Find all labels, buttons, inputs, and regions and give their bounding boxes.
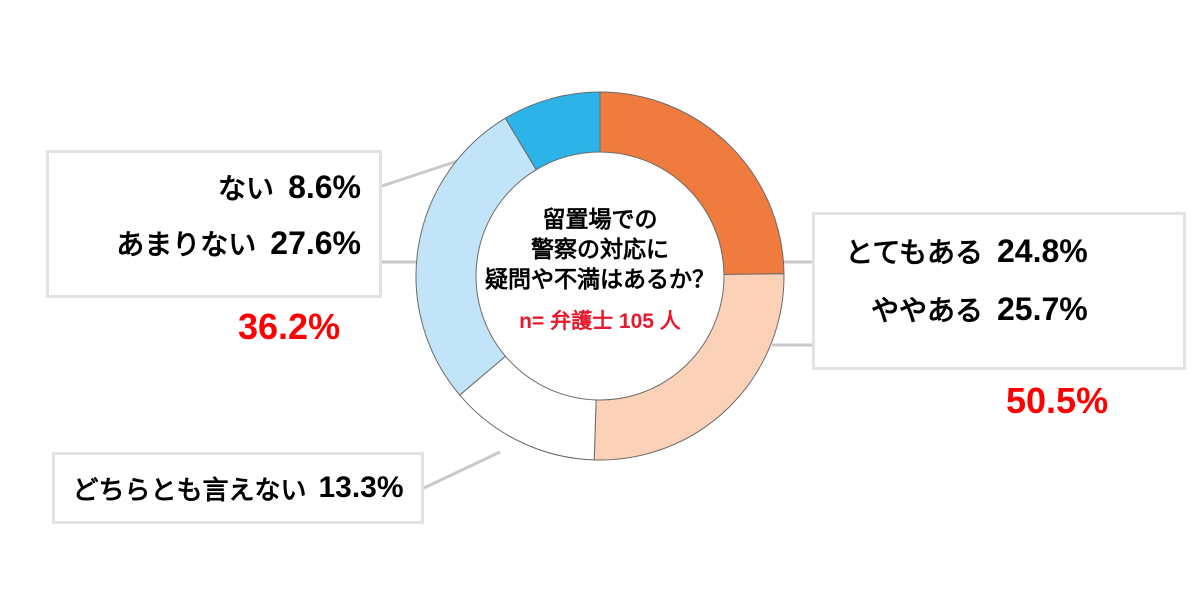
- donut-chart: [414, 90, 786, 462]
- callout-value-amarinai: 27.6%: [270, 225, 361, 262]
- subtotal-positive: 50.5%: [1006, 380, 1108, 422]
- callout-row-totemoaru: とてもある 24.8%: [833, 231, 1167, 271]
- donut-chart-infographic: 留置場での 警察の対応に 疑問や不満はあるか？ n= 弁護士 105 人 ない …: [0, 0, 1200, 600]
- donut-segment[interactable]: [594, 274, 784, 460]
- callout-label-yayaaru: ややある: [833, 289, 983, 329]
- callout-label-totemoaru: とてもある: [833, 231, 983, 271]
- donut-segment[interactable]: [416, 118, 536, 395]
- subtotal-negative: 36.2%: [238, 306, 340, 348]
- donut-svg: [414, 90, 786, 462]
- callout-box-neutral: どちらとも言えない 13.3%: [52, 452, 424, 524]
- callout-value-dochiratomo: 13.3%: [318, 471, 403, 505]
- callout-label-dochiratomo: どちらとも言えない: [72, 470, 306, 507]
- callout-label-amarinai: あまりない: [116, 223, 256, 263]
- callout-row-nai: ない 8.6%: [63, 167, 361, 207]
- callout-box-negative: ない 8.6% あまりない 27.6%: [46, 150, 382, 298]
- callout-value-nai: 8.6%: [288, 169, 361, 206]
- callout-row-amarinai: あまりない 27.6%: [63, 223, 361, 263]
- callout-box-positive: とてもある 24.8% ややある 25.7%: [812, 212, 1186, 370]
- donut-segment[interactable]: [600, 92, 784, 274]
- callout-value-yayaaru: 25.7%: [997, 291, 1088, 328]
- callout-label-nai: ない: [218, 167, 274, 207]
- callout-row-yayaaru: ややある 25.7%: [833, 289, 1167, 329]
- callout-value-totemoaru: 24.8%: [997, 233, 1088, 270]
